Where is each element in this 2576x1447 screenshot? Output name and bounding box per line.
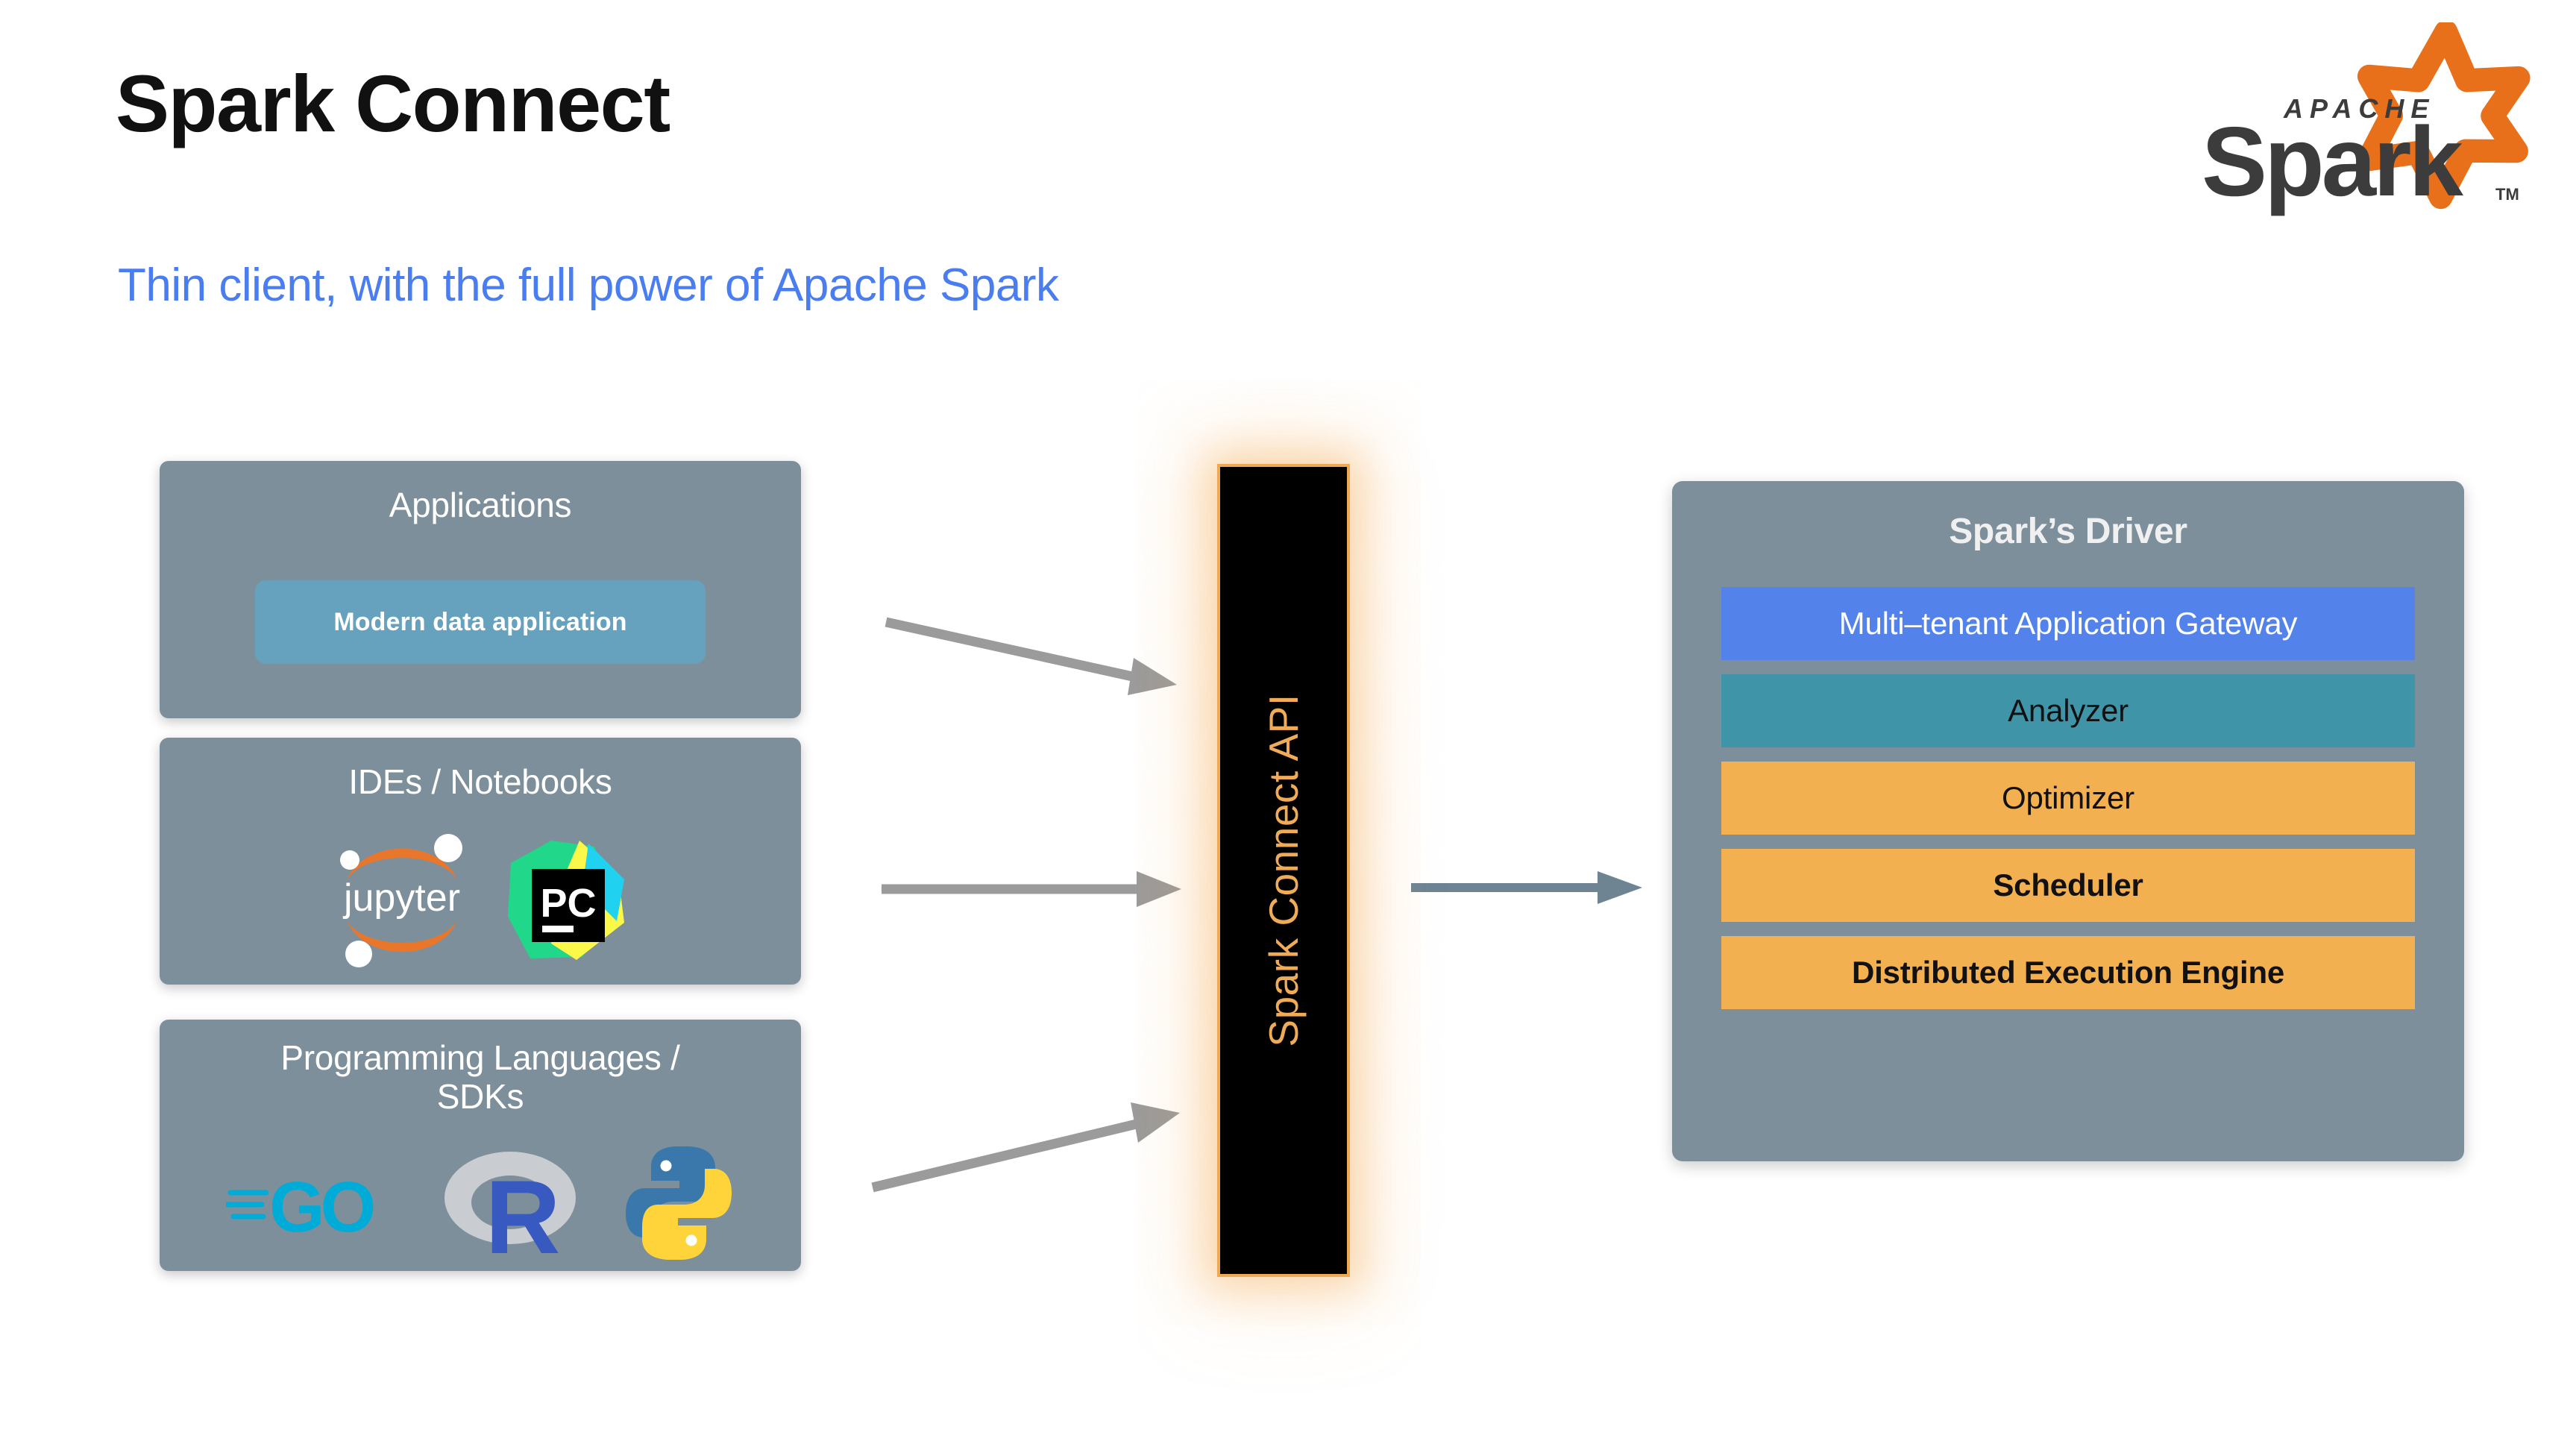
spark-driver-panel[interactable]: Spark’s Driver Multi–tenant Application … [1672,481,2464,1161]
pycharm-underscore [542,926,574,932]
r-language-logo-svg: R [439,1147,581,1259]
pycharm-pc-text: PC [540,881,596,926]
card-programming-languages-title-line2: SDKs [160,1078,801,1117]
modern-data-application-box[interactable]: Modern data application [255,580,706,664]
pycharm-logo: PC [505,833,632,967]
golang-wordmark: GO [269,1167,374,1246]
spark-connect-api-label: Spark Connect API [1260,694,1307,1046]
driver-row-scheduler[interactable]: Scheduler [1721,849,2415,922]
logo-spark-text: Spark [2202,107,2463,216]
spark-connect-api-bar[interactable]: Spark Connect API [1217,464,1350,1277]
page-subtitle: Thin client, with the full power of Apac… [118,263,1058,309]
page-title: Spark Connect [116,63,670,144]
card-applications-title: Applications [160,486,801,525]
python-logo-svg [623,1145,735,1261]
driver-row-distributed-execution-engine[interactable]: Distributed Execution Engine [1721,936,2415,1009]
arrow-ides-to-api [880,843,1193,932]
jupyter-logo-svg: jupyter [329,827,475,973]
golang-speed-lines [226,1193,266,1217]
card-ides-notebooks[interactable]: IDEs / Notebooks jupyter [160,738,801,985]
card-programming-languages-title-line1: Programming Languages / [160,1039,801,1078]
arrow-languages-to-api [865,1067,1193,1201]
driver-row-optimizer[interactable]: Optimizer [1721,762,2415,835]
jupyter-dot-top-right [434,834,462,862]
jupyter-dot-bottom-left [345,941,372,967]
card-applications[interactable]: Applications Modern data application [160,461,801,718]
apache-spark-logo: APACHE Spark TM [2173,22,2531,216]
pycharm-logo-svg: PC [505,833,632,967]
jupyter-wordmark: jupyter [342,876,460,920]
apache-spark-logo-svg: APACHE Spark TM [2173,22,2531,216]
language-logo-row: GO R [160,1145,801,1261]
arrow-api-to-driver [1410,850,1656,925]
r-logo-letter: R [485,1158,560,1259]
ide-logo-row: jupyter PC [160,827,801,973]
python-eye-top [661,1161,672,1172]
driver-row-multi-tenant-application-gateway[interactable]: Multi–tenant Application Gateway [1721,587,2415,660]
jupyter-logo: jupyter [329,827,475,973]
card-programming-languages[interactable]: Programming Languages / SDKs GO [160,1020,801,1271]
spark-driver-title: Spark’s Driver [1672,511,2464,552]
card-ides-notebooks-title: IDEs / Notebooks [160,763,801,802]
card-programming-languages-title: Programming Languages / SDKs [160,1039,801,1116]
jupyter-dot-left [340,850,359,870]
driver-row-analyzer[interactable]: Analyzer [1721,674,2415,747]
arrow-applications-to-api [880,612,1193,731]
slide-canvas: Spark Connect Thin client, with the full… [0,0,2576,1447]
golang-logo: GO [226,1160,398,1246]
python-logo [623,1145,735,1261]
golang-logo-svg: GO [226,1160,398,1246]
r-language-logo: R [439,1147,581,1259]
python-eye-bottom [686,1235,697,1246]
spark-driver-row-list: Multi–tenant Application Gateway Analyze… [1721,587,2415,1009]
logo-trademark-text: TM [2495,185,2519,204]
